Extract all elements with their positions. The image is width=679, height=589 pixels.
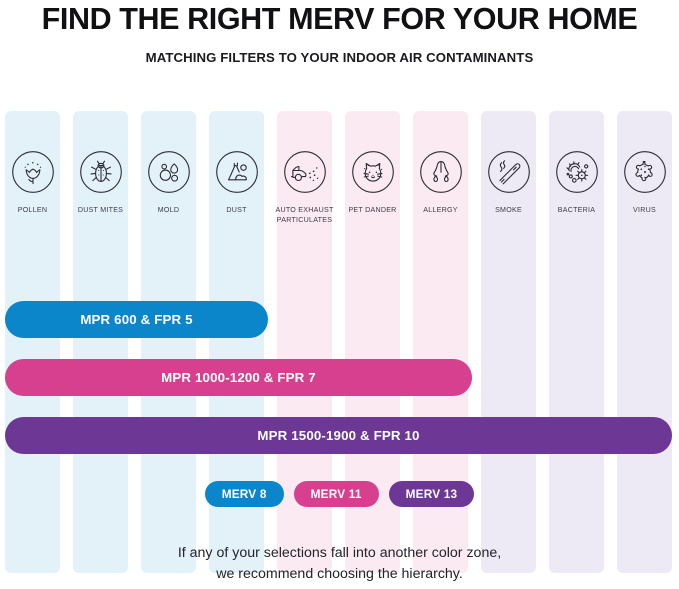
car-exhaust-icon [283, 150, 327, 194]
column-label: PET DANDER [338, 206, 407, 216]
column-label: AUTO EXHAUST PARTICULATES [270, 206, 339, 225]
column-label: BACTERIA [542, 206, 611, 216]
mold-spores-icon [147, 150, 191, 194]
mpr-bar-merv13[interactable]: MPR 1500-1900 & FPR 10 [5, 417, 672, 454]
virus-icon [623, 150, 667, 194]
footnote-line-2: we recommend choosing the hierarchy. [0, 564, 679, 585]
footnote-line-1: If any of your selections fall into anot… [0, 543, 679, 564]
merv-badge-label: MERV 11 [311, 487, 362, 501]
merv-badge-8[interactable]: MERV 8 [205, 481, 284, 507]
page-subtitle: MATCHING FILTERS TO YOUR INDOOR AIR CONT… [0, 50, 679, 65]
nose-allergy-icon [419, 150, 463, 194]
column-label: POLLEN [0, 206, 67, 216]
column-label: DUST MITES [66, 206, 135, 216]
dust-mite-bug-icon [79, 150, 123, 194]
mpr-bar-merv8[interactable]: MPR 600 & FPR 5 [5, 301, 268, 338]
page-title: FIND THE RIGHT MERV FOR YOUR HOME [0, 2, 679, 37]
cigarette-smoke-icon [487, 150, 531, 194]
footnote: If any of your selections fall into anot… [0, 543, 679, 585]
column-label: ALLERGY [406, 206, 475, 216]
column-label: DUST [202, 206, 271, 216]
bacteria-icon [555, 150, 599, 194]
mpr-bar-label: MPR 1000-1200 & FPR 7 [161, 370, 316, 385]
merv-badge-11[interactable]: MERV 11 [294, 481, 379, 507]
merv-badge-label: MERV 8 [222, 487, 267, 501]
merv-legend: MERV 8 MERV 11 MERV 13 [0, 481, 679, 507]
merv-infographic: FIND THE RIGHT MERV FOR YOUR HOME MATCHI… [0, 0, 679, 589]
merv-badge-label: MERV 13 [406, 487, 458, 501]
dust-pile-icon [215, 150, 259, 194]
mpr-bar-label: MPR 1500-1900 & FPR 10 [257, 428, 419, 443]
column-label: VIRUS [610, 206, 679, 216]
mpr-bar-merv11[interactable]: MPR 1000-1200 & FPR 7 [5, 359, 472, 396]
column-label: SMOKE [474, 206, 543, 216]
column-label: MOLD [134, 206, 203, 216]
cat-face-icon [351, 150, 395, 194]
merv-badge-13[interactable]: MERV 13 [389, 481, 475, 507]
pollen-flower-icon [11, 150, 55, 194]
mpr-bar-label: MPR 600 & FPR 5 [80, 312, 192, 327]
